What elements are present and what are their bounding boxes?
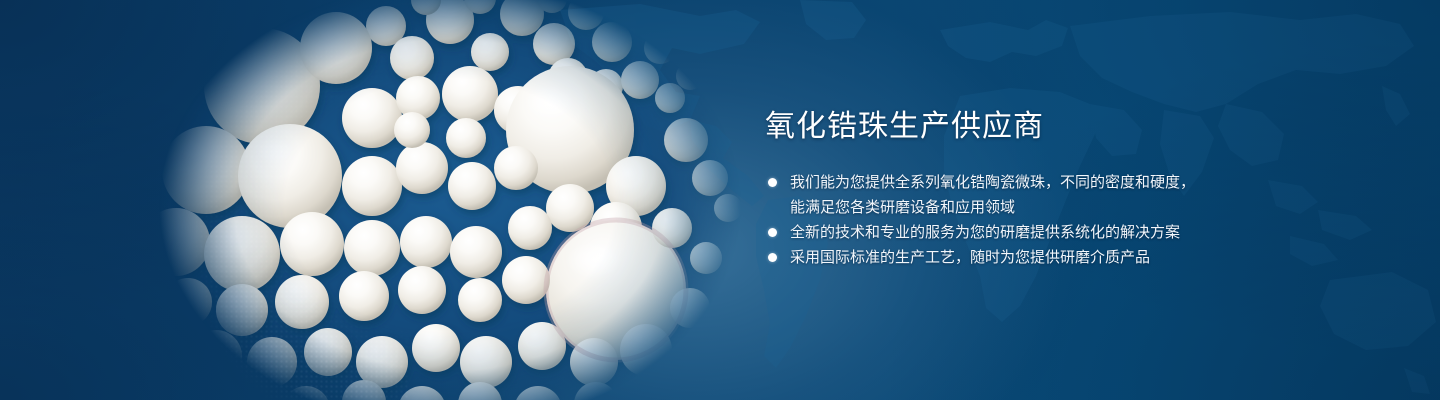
feature-list: 我们能为您提供全系列氧化锆陶瓷微珠，不同的密度和硬度， 能满足您各类研磨设备和应… bbox=[763, 170, 1233, 270]
bullet-dot-icon bbox=[768, 178, 777, 187]
list-item: 我们能为您提供全系列氧化锆陶瓷微珠，不同的密度和硬度， 能满足您各类研磨设备和应… bbox=[763, 170, 1233, 220]
list-item-line: 全新的技术和专业的服务为您的研磨提供系统化的解决方案 bbox=[790, 220, 1233, 245]
list-item: 采用国际标准的生产工艺，随时为您提供研磨介质产品 bbox=[763, 245, 1233, 270]
list-item: 全新的技术和专业的服务为您的研磨提供系统化的解决方案 bbox=[763, 220, 1233, 245]
zirconia-beads-photo bbox=[150, 0, 770, 400]
bullet-dot-icon bbox=[768, 228, 777, 237]
page-title: 氧化锆珠生产供应商 bbox=[765, 108, 1233, 146]
bullet-dot-icon bbox=[768, 253, 777, 262]
list-item-line: 能满足您各类研磨设备和应用领域 bbox=[790, 195, 1233, 220]
list-item-line: 我们能为您提供全系列氧化锆陶瓷微珠，不同的密度和硬度， bbox=[790, 170, 1233, 195]
hero-banner: 氧化锆珠生产供应商 我们能为您提供全系列氧化锆陶瓷微珠，不同的密度和硬度， 能满… bbox=[0, 0, 1440, 400]
list-item-line: 采用国际标准的生产工艺，随时为您提供研磨介质产品 bbox=[790, 245, 1233, 270]
banner-copy: 氧化锆珠生产供应商 我们能为您提供全系列氧化锆陶瓷微珠，不同的密度和硬度， 能满… bbox=[763, 108, 1233, 270]
